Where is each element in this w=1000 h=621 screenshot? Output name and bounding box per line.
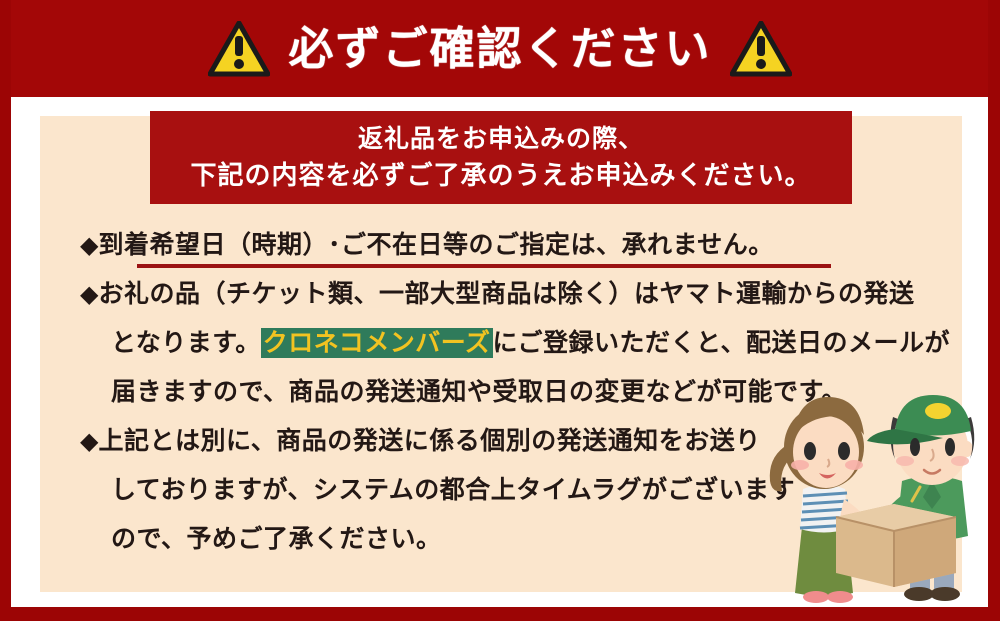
notice-item-3-line-2-text: しておりますが、システムの都合上タイムラグがございます xyxy=(111,476,795,504)
notice-item-1-underline xyxy=(137,264,831,268)
notice-item-1: ◆到着希望日（時期）･ご不在日等のご指定は、承れません。 xyxy=(80,221,960,270)
warning-triangle-icon xyxy=(730,21,792,77)
notice-item-2-line-2-before: となります。 xyxy=(111,329,261,357)
bullet-diamond-icon: ◆ xyxy=(80,281,98,308)
bullet-diamond-icon: ◆ xyxy=(80,232,98,259)
notice-item-3: ◆上記とは別に、商品の発送に係る個別の発送通知をお送り xyxy=(80,417,960,466)
subheader-line-1: 返礼品をお申込みの際、 xyxy=(358,124,644,155)
notice-item-3-line-2: しておりますが、システムの都合上タイムラグがございます xyxy=(80,466,960,515)
notice-item-2-line-2-after: にご登録いただくと、配送日のメールが xyxy=(493,329,951,357)
notice-item-2-line-3-text: 届きますので、商品の発送通知や受取日の変更などが可能です。 xyxy=(111,378,847,406)
notice-banner-page: 必ずご確認ください 返礼品をお申込みの際、 下記の内容を必ずご了承のうえお申込み… xyxy=(0,0,1000,621)
notice-item-2-line-1: お礼の品（チケット類、一部大型商品は除く）はヤマト運輸からの発送 xyxy=(98,280,914,308)
notice-item-3-line-1: 上記とは別に、商品の発送に係る個別の発送通知をお送り xyxy=(98,427,760,455)
header-banner: 必ずご確認ください xyxy=(0,0,1000,97)
notice-list: ◆到着希望日（時期）･ご不在日等のご指定は、承れません。 ◆お礼の品（チケット類… xyxy=(80,221,960,564)
notice-item-2-line-2: となります。クロネコメンバーズにご登録いただくと、配送日のメールが xyxy=(80,319,960,368)
page-title: 必ずご確認ください xyxy=(288,26,711,71)
warning-triangle-icon xyxy=(208,21,270,77)
notice-item-1-line-1: 到着希望日（時期）･ご不在日等のご指定は、承れません。 xyxy=(98,231,773,259)
notice-item-2-line-3: 届きますので、商品の発送通知や受取日の変更などが可能です。 xyxy=(80,368,960,417)
subheader-line-2: 下記の内容を必ずご了承のうえお申込みください。 xyxy=(190,159,811,192)
kuroneko-members-highlight: クロネコメンバーズ xyxy=(261,328,493,358)
subheader-banner: 返礼品をお申込みの際、 下記の内容を必ずご了承のうえお申込みください。 xyxy=(150,111,852,204)
notice-item-2: ◆お礼の品（チケット類、一部大型商品は除く）はヤマト運輸からの発送 xyxy=(80,270,960,319)
notice-item-3-line-3-text: ので、予めご了承ください。 xyxy=(111,525,442,553)
notice-panel: 返礼品をお申込みの際、 下記の内容を必ずご了承のうえお申込みください。 ◆到着希… xyxy=(40,116,962,592)
notice-item-3-line-3: ので、予めご了承ください。 xyxy=(80,515,960,564)
bullet-diamond-icon: ◆ xyxy=(80,428,98,455)
